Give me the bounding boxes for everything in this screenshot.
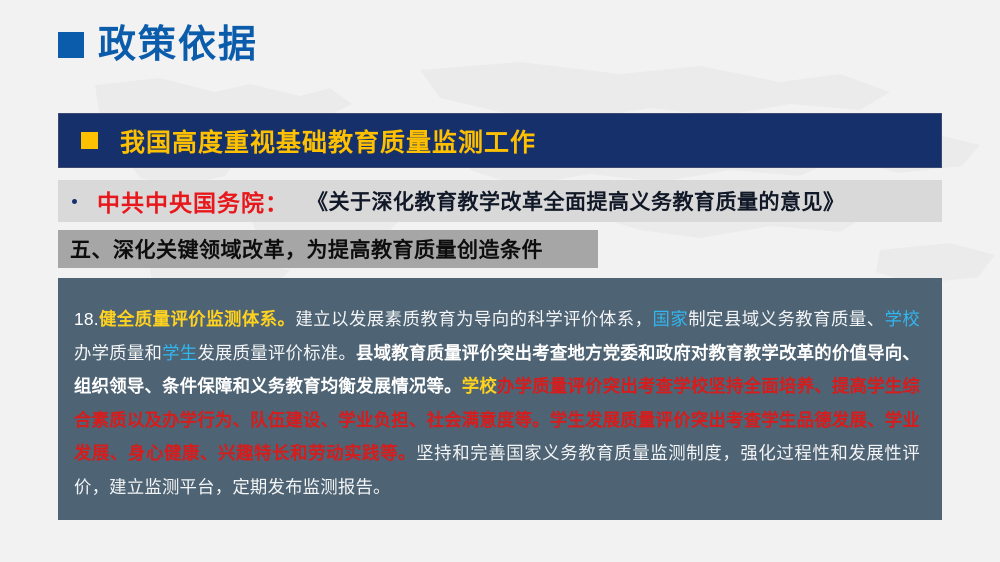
body-text-run: 办学质量和 xyxy=(74,343,162,363)
page-title: 政策依据 xyxy=(58,26,258,64)
section-heading-label: 五、深化关键领域改革，为提高教育质量创造条件 xyxy=(70,234,543,264)
slide-canvas: 政策依据 我国高度重视基础教育质量监测工作 中共中央国务院： 《关于深化教育教学… xyxy=(0,0,1000,562)
citation-issuer: 中共中央国务院： xyxy=(97,184,289,218)
body-panel: 18.健全质量评价监测体系。建立以发展素质教育为导向的科学评价体系，国家制定县域… xyxy=(58,278,942,520)
citation-band: 中共中央国务院： 《关于深化教育教学改革全面提高义务教育质量的意见》 xyxy=(58,180,942,222)
section-heading-band: 五、深化关键领域改革，为提高教育质量创造条件 xyxy=(58,230,598,268)
header-band-label: 我国高度重视基础教育质量监测工作 xyxy=(120,123,536,159)
page-title-text: 政策依据 xyxy=(98,26,258,64)
body-text-run: 建立以发展素质教育为导向的科学评价体系， xyxy=(295,309,652,329)
body-text-run: 健全质量评价监测体系。 xyxy=(99,309,296,329)
yellow-square-bullet-icon xyxy=(81,132,98,149)
body-text-run: 学校 xyxy=(885,309,920,329)
body-text-run: 发展质量评价标准。 xyxy=(197,343,356,363)
body-text-run: 18. xyxy=(74,309,99,329)
body-text-run: 学生 xyxy=(162,343,197,363)
citation-document-title: 《关于深化教育教学改革全面提高义务教育质量的意见》 xyxy=(307,186,845,216)
body-text-run: 制定县域义务教育质量、 xyxy=(688,309,884,329)
title-square-bullet-icon xyxy=(58,32,84,58)
body-text-run: 国家 xyxy=(652,309,688,329)
header-band: 我国高度重视基础教育质量监测工作 xyxy=(58,113,942,168)
body-paragraph: 18.健全质量评价监测体系。建立以发展素质教育为导向的科学评价体系，国家制定县域… xyxy=(74,303,920,504)
body-text-run: 学校 xyxy=(462,376,497,396)
navy-dot-bullet-icon xyxy=(72,199,77,204)
